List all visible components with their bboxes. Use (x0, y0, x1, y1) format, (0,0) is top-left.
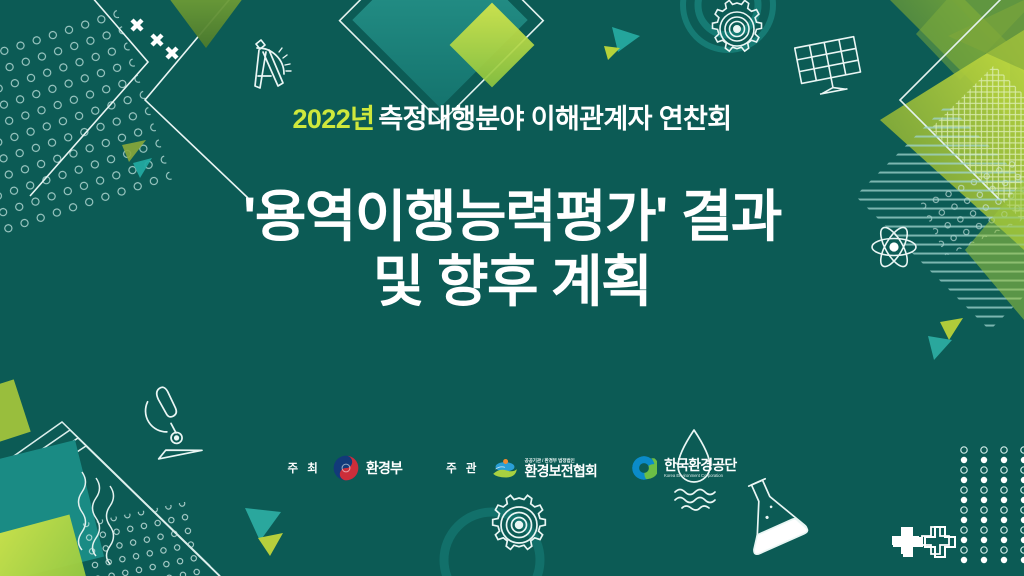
organizer-role-label: 주 관 (446, 460, 479, 476)
org-korea-environment-corporation: 한국환경공단 Korea Environment Corporation (631, 455, 736, 481)
host-role-label: 주 최 (288, 460, 321, 476)
org-names: 공공기관 / 환경부 법정법인 환경보전협회 (525, 458, 597, 479)
ring-icon (631, 455, 657, 481)
presentation-slide: 2022년측정대행분야 이해관계자 연찬회 '용역이행능력평가' 결과 및 향후… (0, 0, 1024, 576)
event-year: 2022년 (292, 104, 374, 134)
org-english-name: Korea Environment Corporation (664, 473, 736, 478)
org-name: 한국환경공단 (664, 458, 736, 473)
org-name: 환경부 (366, 461, 402, 476)
org-ministry-of-environment: 환경부 (333, 455, 402, 481)
org-name: 환경보전협회 (525, 464, 597, 479)
landscape-icon (492, 455, 518, 481)
organizer-group: 주 관 공공기관 / 환경부 법정법인 환경보전협회 (446, 455, 736, 481)
taegeuk-icon (333, 455, 359, 481)
org-environmental-preservation-association: 공공기관 / 환경부 법정법인 환경보전협회 (492, 455, 597, 481)
event-subtitle: 2022년측정대행분야 이해관계자 연찬회 (292, 104, 731, 135)
org-sublabel: 공공기관 / 환경부 법정법인 (525, 458, 597, 463)
footer-organizations: 주 최 환경부 주 관 (0, 446, 1024, 490)
host-group: 주 최 환경부 (288, 455, 403, 481)
event-subtitle-text: 측정대행분야 이해관계자 연찬회 (378, 104, 731, 134)
org-names: 환경부 (366, 461, 402, 476)
page-title-line1: '용역이행능력평가' 결과 (243, 185, 781, 248)
page-title-line2: 및 향후 계획 (243, 250, 781, 315)
org-names: 한국환경공단 Korea Environment Corporation (664, 458, 736, 479)
page-title: '용역이행능력평가' 결과 및 향후 계획 (243, 185, 781, 315)
